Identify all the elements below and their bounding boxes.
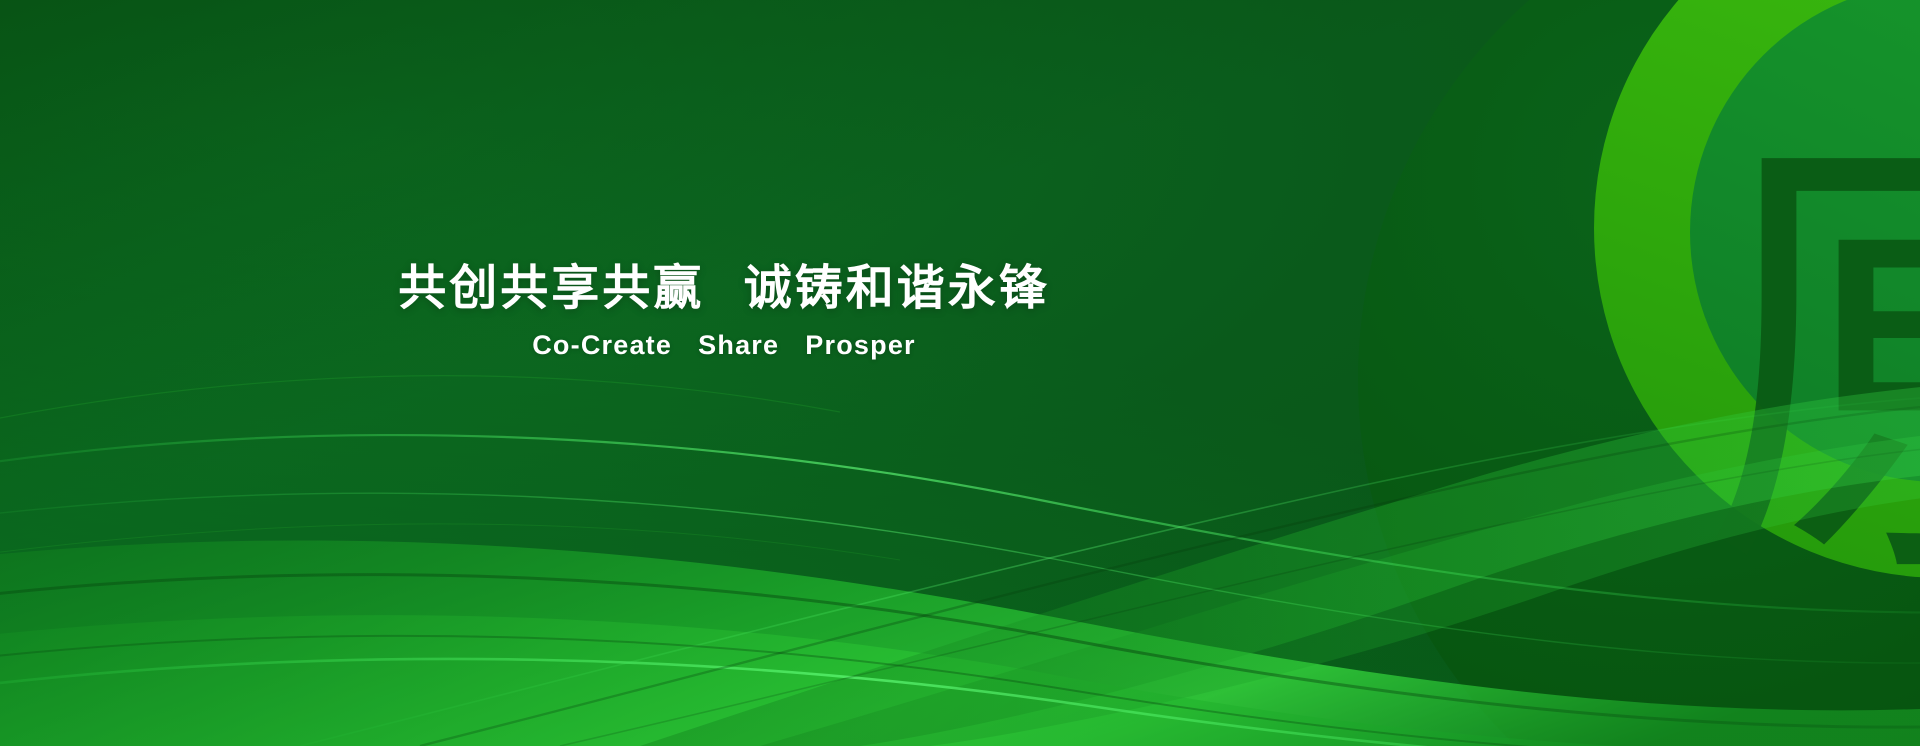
headline-chinese: 共创共享共赢 诚铸和谐永锋: [0, 258, 1448, 318]
promo-banner: 原: [0, 0, 1920, 746]
headline-english: Co-Create Share Prosper: [0, 330, 1448, 361]
watermark-glyph: 原: [1700, 130, 1920, 600]
headline-block: 共创共享共赢 诚铸和谐永锋 Co-Create Share Prosper: [0, 258, 1448, 361]
